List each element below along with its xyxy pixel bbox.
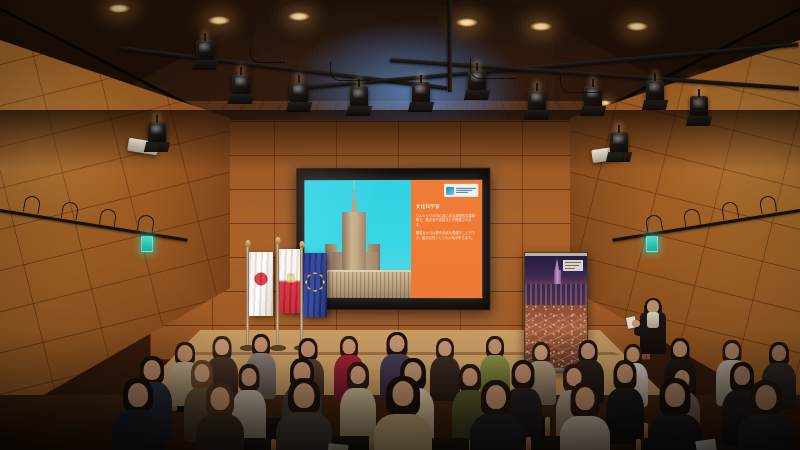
eu-stars-icon [307, 274, 323, 290]
person-head [486, 385, 506, 409]
exit-sign-left [141, 236, 153, 252]
person-head [390, 335, 405, 352]
person-torso [648, 414, 702, 450]
stage-spotlight [690, 96, 708, 118]
stage-spotlight [528, 90, 546, 112]
truss-drop-rod [448, 0, 452, 92]
stage-spotlight [290, 82, 308, 104]
audience-member [340, 362, 376, 440]
audience-member [560, 382, 610, 450]
person-torso [276, 412, 332, 450]
flag-japan [249, 252, 273, 316]
spotlight-lens-icon [415, 85, 427, 94]
ceiling-downlight [530, 22, 552, 31]
person-torso [470, 414, 522, 450]
person-torso [560, 416, 610, 450]
rigging-cable [330, 62, 371, 81]
spotlight-lens-icon [151, 125, 163, 134]
audience-member [374, 376, 432, 450]
ceiling-downlight [108, 4, 130, 13]
slide-paragraph-2: 展望台からは都市全体を見渡すことができ、観光名所としても人気があります。 [416, 231, 477, 240]
person-head [576, 387, 595, 410]
stage-spotlight [350, 86, 368, 108]
person-head [343, 339, 356, 354]
ceiling-downlight [208, 16, 230, 25]
palace-of-culture-tower [343, 212, 367, 272]
slide-paragraph-1: ワルシャワの中心部にある象徴的な建築物で、展示会や会議などが開催されます。 [416, 213, 477, 227]
conference-hall-photo: 文化科学宮 ワルシャワの中心部にある象徴的な建築物で、展示会や会議などが開催され… [0, 0, 800, 450]
audience-member [648, 378, 702, 450]
person-head [581, 343, 595, 359]
flag-european-union [303, 253, 327, 317]
audience-member [196, 382, 244, 450]
person-head [351, 366, 366, 384]
logo-mark-icon [446, 186, 454, 194]
audience-member [112, 378, 164, 450]
person-head [195, 364, 210, 382]
slide-heading: 文化科学宮 [416, 204, 477, 210]
person-head [756, 385, 777, 410]
person-head [439, 341, 452, 356]
rigging-cable [250, 46, 285, 63]
audience-member [738, 380, 794, 450]
person-head [725, 343, 739, 359]
stage-spotlight [412, 82, 430, 104]
audience-member [276, 378, 332, 450]
person-head [489, 339, 502, 354]
spotlight-lens-icon [613, 135, 625, 144]
audience-member [606, 360, 644, 440]
person-torso [196, 414, 244, 450]
slide-text-panel: 文化科学宮 ワルシャワの中心部にある象徴的な建築物で、展示会や会議などが開催され… [411, 180, 482, 298]
rigging-cable [470, 58, 517, 79]
audience-member [470, 380, 522, 450]
person-head [393, 381, 414, 406]
rigging-cable [560, 74, 601, 93]
person-head [211, 387, 230, 410]
stage-spotlight [646, 80, 664, 102]
person-head [215, 339, 229, 355]
person-head [772, 345, 786, 361]
person-torso [606, 388, 644, 444]
spotlight-lens-icon [353, 89, 365, 98]
ceiling-downlight [456, 18, 478, 27]
presentation-slide: 文化科学宮 ワルシャワの中心部にある象徴的な建築物で、展示会や会議などが開催され… [304, 180, 482, 298]
poland-crest-icon [287, 274, 295, 283]
flag-finial-icon [299, 241, 304, 248]
ceiling-downlight [288, 12, 310, 21]
printed-handout [327, 443, 348, 450]
stage-spotlight [196, 40, 214, 62]
ceiling-downlight [626, 22, 648, 31]
stage-spotlight [232, 74, 250, 96]
spotlight-lens-icon [235, 77, 247, 86]
exit-sign-right [646, 236, 658, 252]
audience [0, 320, 800, 450]
organization-logo-icon [444, 184, 478, 197]
spotlight-lens-icon [693, 99, 705, 108]
spotlight-lens-icon [531, 93, 543, 102]
spotlight-lens-icon [293, 85, 305, 94]
printed-handout [695, 439, 716, 450]
person-head [665, 383, 685, 407]
chair [430, 438, 470, 450]
person-head [294, 383, 315, 408]
spotlight-lens-icon [649, 83, 661, 92]
person-head [144, 360, 161, 380]
flag-finial-icon [275, 237, 280, 244]
person-torso [112, 410, 164, 450]
spotlight-lens-icon [199, 43, 211, 52]
person-head [617, 364, 633, 383]
stage-spotlight [148, 122, 166, 144]
person-head [535, 345, 548, 360]
person-head [673, 341, 687, 357]
person-head [128, 383, 148, 407]
stage-spotlight [610, 132, 628, 154]
logo-wordmark [456, 188, 476, 193]
banner-caption-block [563, 260, 583, 271]
japan-sun-disc-icon [255, 272, 268, 285]
person-head [301, 341, 315, 357]
person-head [255, 337, 268, 352]
person-torso [738, 414, 794, 450]
flag-finial-icon [245, 240, 250, 247]
person-torso [374, 414, 432, 450]
